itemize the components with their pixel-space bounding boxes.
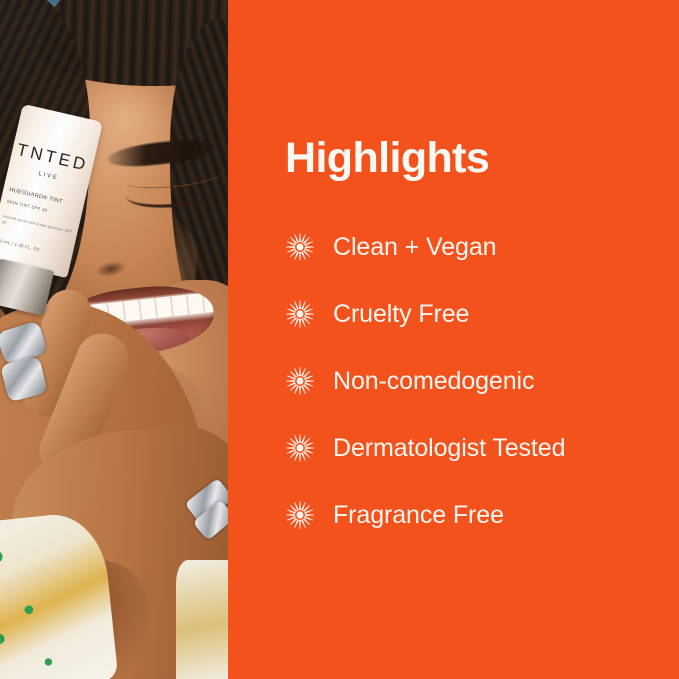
list-item: Fragrance Free [285, 500, 659, 530]
list-item-label: Fragrance Free [333, 501, 504, 530]
sunburst-icon [285, 299, 315, 329]
list-item-label: Dermatologist Tested [333, 434, 565, 463]
list-item-label: Cruelty Free [333, 300, 469, 329]
list-item: Non-comedogenic [285, 366, 659, 396]
list-item-label: Clean + Vegan [333, 233, 496, 262]
patterned-shirt-right [176, 560, 228, 679]
product-label-line-3: mineral sunscreen broad spectrum SPF 40 [1, 214, 74, 241]
list-item: Dermatologist Tested [285, 433, 659, 463]
list-item: Cruelty Free [285, 299, 659, 329]
highlights-banner: TNTED LIVE HUEGUARD® TINT SKIN TINT SPF … [0, 0, 679, 679]
product-lifestyle-photo: TNTED LIVE HUEGUARD® TINT SKIN TINT SPF … [0, 0, 228, 679]
highlights-list: Clean + Vegan Cruelty Free Non-comedogen… [285, 232, 659, 530]
sunburst-icon [285, 433, 315, 463]
highlights-panel: Highlights Clean + Vegan Cruelty Free No… [228, 0, 679, 679]
sunburst-icon [285, 366, 315, 396]
sunburst-icon [285, 232, 315, 262]
page-title: Highlights [285, 137, 659, 180]
list-item-label: Non-comedogenic [333, 367, 534, 396]
list-item: Clean + Vegan [285, 232, 659, 262]
product-volume-text: 40 mL / 1.35 FL. OZ. [0, 238, 68, 259]
sunburst-icon [285, 500, 315, 530]
